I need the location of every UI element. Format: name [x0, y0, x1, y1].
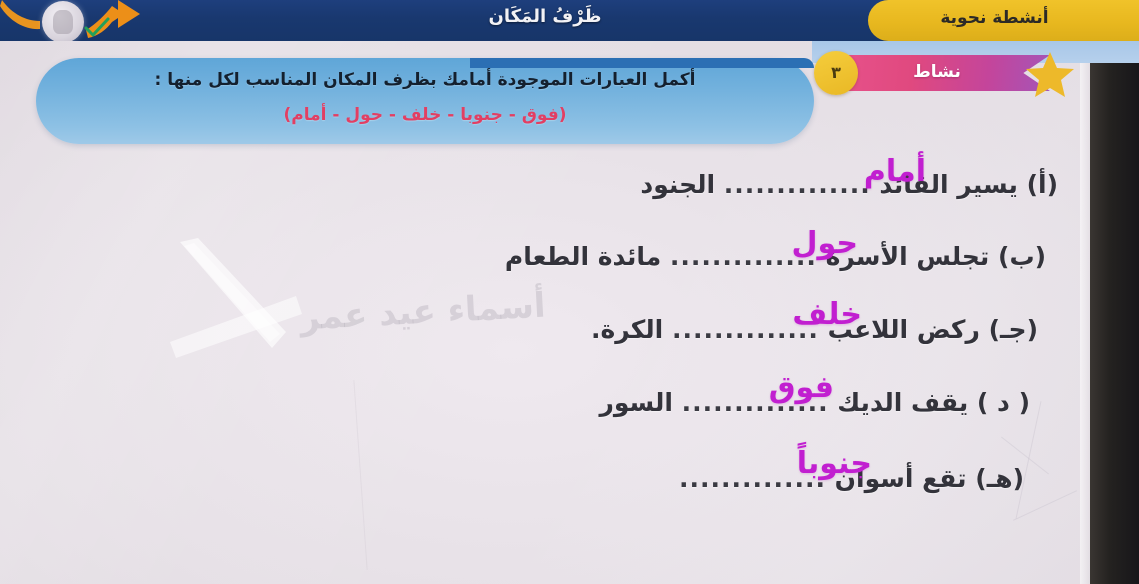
activity-ribbon: نشاط ٣ — [828, 55, 1078, 91]
question-text: ( د ) يقف الديك .............. السورفوق — [599, 388, 1030, 417]
question-phrase-after: السور — [599, 388, 681, 417]
question-phrase-after: الجنود — [640, 170, 723, 199]
handwritten-answer: أمام — [864, 154, 926, 189]
question-phrase-before: يقف الديك — [829, 388, 969, 417]
handwritten-answer: فوق — [769, 370, 834, 405]
screen-bezel — [1090, 0, 1139, 584]
green-check-icon — [84, 17, 110, 39]
question-phrase-after: مائدة الطعام — [505, 242, 670, 271]
question-text: (هـ) تقع أسوان ..............جنوباً — [679, 464, 1024, 493]
instruction-panel: أكمل العبارات الموجودة أمامك بظرف المكان… — [36, 58, 814, 144]
question-marker: ( د ) — [968, 388, 1030, 417]
handwritten-answer: خلف — [792, 297, 862, 332]
activities-tab-label: أنشطة نحوية — [868, 8, 1121, 28]
question-marker: (ب) — [989, 242, 1046, 271]
logo-inner-shape — [53, 10, 73, 34]
activity-number-badge: ٣ — [814, 51, 858, 95]
worksheet-screenshot: أسماء عيد عمر ظَرْفُ المَكَان أنشطة نحوي… — [0, 0, 1139, 584]
instruction-panel-overlap — [470, 58, 814, 68]
yellow-star-icon — [1024, 50, 1076, 100]
question-marker: (جـ) — [980, 315, 1038, 344]
question-marker: (أ) — [1018, 170, 1058, 199]
handwritten-answer: حول — [792, 226, 858, 261]
question-phrase-after: الكرة. — [591, 315, 672, 344]
circular-logo-icon — [42, 1, 84, 41]
ribbon-label: نشاط — [852, 62, 1022, 82]
activities-tab[interactable]: أنشطة نحوية — [868, 0, 1139, 41]
question-text: (ب) تجلس الأسرة .............. مائدة الط… — [505, 242, 1046, 271]
question-text: (أ) يسير القائد .............. الجنودأما… — [640, 170, 1058, 199]
question-row: (أ) يسير القائد .............. الجنودأما… — [640, 170, 1090, 240]
word-bank-text: (فوق - جنوبا - خلف - حول - أمام) — [62, 105, 788, 125]
question-text: (جـ) ركض اللاعب .............. الكرة.خلف — [591, 315, 1038, 344]
question-marker: (هـ) — [967, 464, 1024, 493]
instruction-text: أكمل العبارات الموجودة أمامك بظرف المكان… — [62, 70, 788, 90]
activity-number: ٣ — [814, 63, 858, 82]
handwritten-answer: جنوباً — [797, 446, 872, 481]
question-row: (جـ) ركض اللاعب .............. الكرة.خلف — [591, 315, 1090, 385]
answer-blank-dots[interactable]: .............. — [724, 170, 871, 199]
question-row: (هـ) تقع أسوان ..............جنوباً — [679, 464, 1090, 534]
